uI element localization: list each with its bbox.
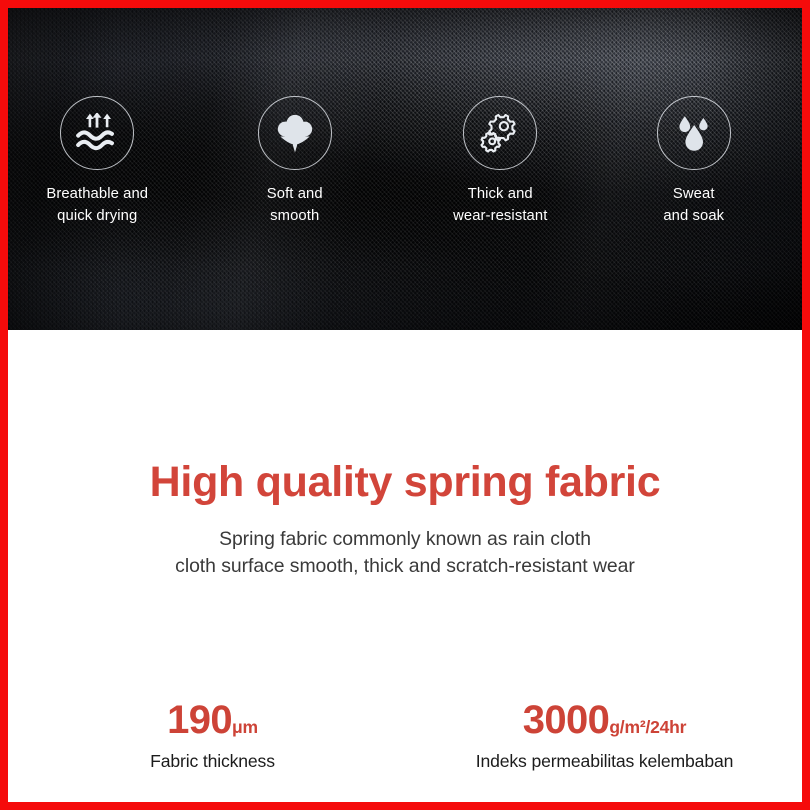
water-droplets-icon — [673, 112, 715, 154]
red-frame: Breathable and quick drying — [0, 0, 810, 810]
feature-icon-ring-sweat — [657, 96, 731, 170]
page-title: High quality spring fabric — [8, 461, 802, 504]
stat-caption: Fabric thickness — [14, 751, 411, 772]
stat-value: 190μm — [14, 700, 411, 740]
feature-label: Thick and wear-resistant — [453, 184, 547, 228]
feature-icon-ring-thick — [463, 96, 537, 170]
spec-stats-row: 190μm Fabric thickness 3000g/m²/24hr Ind… — [8, 700, 802, 772]
feature-icon-ring-breathable — [60, 96, 134, 170]
stat-fabric-thickness: 190μm Fabric thickness — [14, 700, 411, 772]
feature-label: Sweat and soak — [663, 184, 724, 228]
feature-item-soft[interactable]: Soft and smooth — [196, 96, 395, 228]
feature-label: Soft and smooth — [267, 184, 323, 228]
stat-number: 190 — [167, 698, 232, 742]
stat-number: 3000 — [523, 698, 610, 742]
stat-caption: Indeks permeabilitas kelembaban — [406, 751, 802, 772]
stat-unit: μm — [232, 717, 258, 737]
fabric-photo-panel: Breathable and quick drying — [8, 8, 802, 330]
two-gears-icon — [478, 112, 522, 154]
cotton-boll-icon — [273, 112, 317, 154]
description-panel: High quality spring fabric Spring fabric… — [8, 330, 802, 802]
feature-label: Breathable and quick drying — [46, 184, 148, 228]
stat-moisture-permeability: 3000g/m²/24hr Indeks permeabilitas kelem… — [406, 700, 802, 772]
feature-row: Breathable and quick drying — [8, 96, 802, 228]
feature-item-sweat[interactable]: Sweat and soak — [595, 96, 794, 228]
breathable-arrows-waves-icon — [75, 113, 119, 153]
feature-icon-ring-soft — [258, 96, 332, 170]
product-infographic: Breathable and quick drying — [8, 8, 802, 802]
stat-value: 3000g/m²/24hr — [406, 700, 802, 740]
feature-item-thick[interactable]: Thick and wear-resistant — [401, 96, 600, 228]
subtitle: Spring fabric commonly known as rain clo… — [8, 526, 802, 580]
feature-item-breathable[interactable]: Breathable and quick drying — [8, 96, 197, 228]
stat-unit: g/m²/24hr — [609, 717, 686, 737]
